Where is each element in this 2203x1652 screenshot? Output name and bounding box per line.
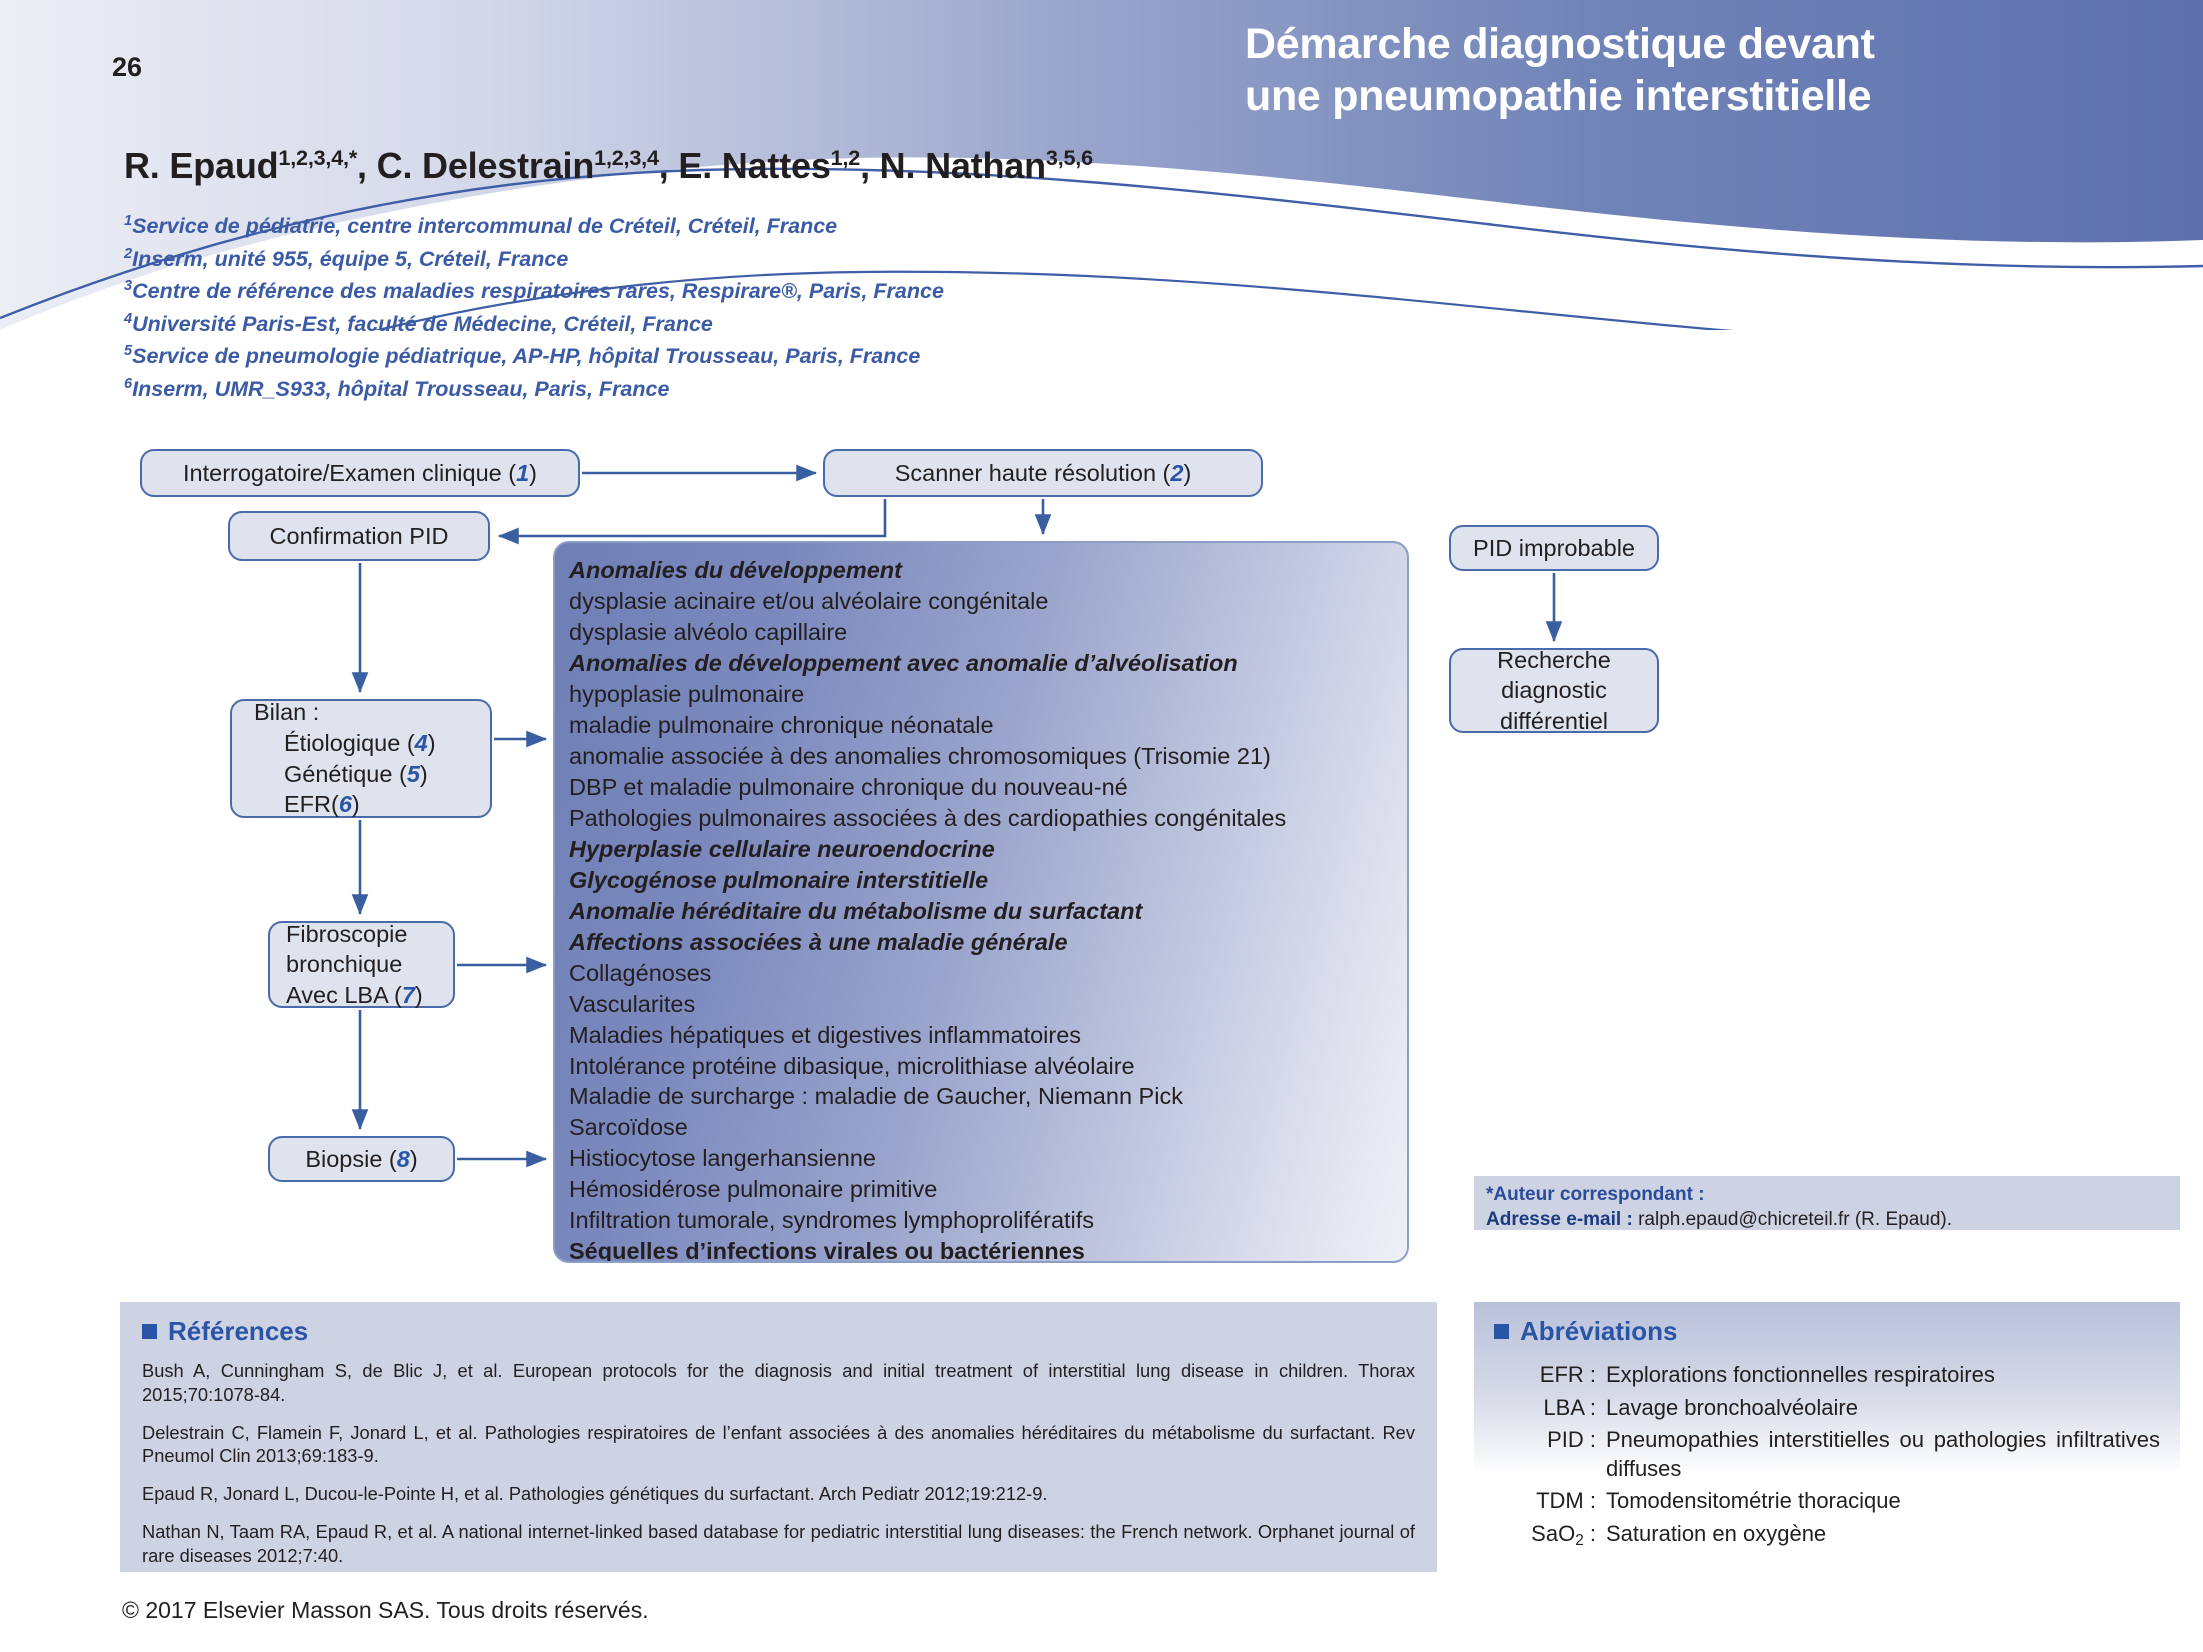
abbreviation-value: Pneumopathies interstitielles ou patholo… (1606, 1426, 2160, 1483)
flow-box-label: Biopsie (8) (305, 1144, 417, 1175)
abbreviations-heading: Abréviations (1494, 1316, 2160, 1347)
corresponding-author-label: *Auteur correspondant : (1486, 1182, 2168, 1207)
flow-box-interrogatoire[interactable]: Interrogatoire/Examen clinique (1) (140, 449, 580, 497)
abbreviation-value: Saturation en oxygène (1606, 1520, 2160, 1549)
abbreviation-key: EFR : (1494, 1361, 1606, 1390)
abbreviations-heading-label: Abréviations (1520, 1316, 1678, 1347)
disease-list-item: dysplasie acinaire et/ou alvéolaire cong… (569, 586, 1407, 617)
references-heading-label: Références (168, 1316, 308, 1347)
abbreviation-key: PID : (1494, 1426, 1606, 1483)
abbreviation-key: SaO2 : (1494, 1520, 1606, 1549)
disease-classification-panel: Anomalies du développementdysplasie acin… (553, 541, 1409, 1263)
abbreviations-panel: Abréviations EFR :Explorations fonctionn… (1474, 1302, 2180, 1582)
disease-list-item: Glycogénose pulmonaire interstitielle (569, 865, 1407, 896)
disease-list-item: dysplasie alvéolo capillaire (569, 617, 1407, 648)
flow-box-label: Bilan : Étiologique (4) Génétique (5) EF… (242, 697, 436, 819)
square-bullet-icon (1494, 1324, 1509, 1339)
references-panel: Références Bush A, Cunningham S, de Blic… (120, 1302, 1437, 1572)
disease-list-item: Hyperplasie cellulaire neuroendocrine (569, 834, 1407, 865)
flow-box-label: Confirmation PID (270, 521, 449, 552)
abbreviation-row: EFR :Explorations fonctionnelles respira… (1494, 1361, 2160, 1390)
disease-list-item: Affections associées à une maladie génér… (569, 927, 1407, 958)
disease-list-item: DBP et maladie pulmonaire chronique du n… (569, 772, 1407, 803)
flow-box-recherche-diagnostic-differentiel[interactable]: Recherche diagnostic différentiel (1449, 648, 1659, 733)
square-bullet-icon (142, 1324, 157, 1339)
disease-list-item: Maladies hépatiques et digestives inflam… (569, 1020, 1407, 1051)
disease-list-item: maladie pulmonaire chronique néonatale (569, 710, 1407, 741)
disease-list-item: Séquelles d’infections virales ou bactér… (569, 1236, 1407, 1263)
disease-list: Anomalies du développementdysplasie acin… (569, 555, 1407, 1263)
abbreviation-value: Explorations fonctionnelles respiratoire… (1606, 1361, 2160, 1390)
disease-list-item: Vascularites (569, 989, 1407, 1020)
abbreviation-key: TDM : (1494, 1487, 1606, 1516)
abbreviation-row: TDM :Tomodensitométrie thoracique (1494, 1487, 2160, 1516)
disease-list-item: Infiltration tumorale, syndromes lymphop… (569, 1205, 1407, 1236)
flow-box-fibroscopie-bronchique[interactable]: Fibroscopie bronchique Avec LBA (7) (268, 921, 455, 1008)
abbreviation-value: Tomodensitométrie thoracique (1606, 1487, 2160, 1516)
reference-item: Epaud R, Jonard L, Ducou-le-Pointe H, et… (142, 1482, 1415, 1506)
references-heading: Références (142, 1316, 1415, 1347)
disease-list-item: Histiocytose langerhansienne (569, 1143, 1407, 1174)
copyright-notice: © 2017 Elsevier Masson SAS. Tous droits … (122, 1597, 649, 1624)
flow-box-label: Interrogatoire/Examen clinique (1) (183, 458, 537, 489)
reference-item: Nathan N, Taam RA, Epaud R, et al. A nat… (142, 1520, 1415, 1568)
disease-list-item: Intolérance protéine dibasique, microlit… (569, 1051, 1407, 1082)
disease-list-item: anomalie associée à des anomalies chromo… (569, 741, 1407, 772)
reference-item: Delestrain C, Flamein F, Jonard L, et al… (142, 1421, 1415, 1469)
abbreviation-row: PID :Pneumopathies interstitielles ou pa… (1494, 1426, 2160, 1483)
reference-item: Bush A, Cunningham S, de Blic J, et al. … (142, 1359, 1415, 1407)
disease-list-item: hypoplasie pulmonaire (569, 679, 1407, 710)
disease-list-item: Hémosidérose pulmonaire primitive (569, 1174, 1407, 1205)
disease-list-item: Pathologies pulmonaires associées à des … (569, 803, 1407, 834)
flow-box-scanner-haute-resolution[interactable]: Scanner haute résolution (2) (823, 449, 1263, 497)
abbreviation-key: LBA : (1494, 1394, 1606, 1423)
flow-box-biopsie[interactable]: Biopsie (8) (268, 1136, 455, 1182)
abbreviation-row: LBA :Lavage bronchoalvéolaire (1494, 1394, 2160, 1423)
disease-list-item: Maladie de surcharge : maladie de Gauche… (569, 1081, 1407, 1112)
abbreviation-key-subscript: 2 (1575, 1532, 1584, 1549)
disease-list-item: Anomalies du développement (569, 555, 1407, 586)
abbreviations-list: EFR :Explorations fonctionnelles respira… (1494, 1361, 2160, 1549)
disease-list-item: Anomalie héréditaire du métabolisme du s… (569, 896, 1407, 927)
flow-box-pid-improbable[interactable]: PID improbable (1449, 525, 1659, 571)
corresponding-author-email-row: Adresse e-mail : ralph.epaud@chicreteil.… (1486, 1207, 2168, 1232)
disease-list-item: Sarcoïdose (569, 1112, 1407, 1143)
corresponding-author-box: *Auteur correspondant : Adresse e-mail :… (1474, 1176, 2180, 1230)
flow-box-label: Fibroscopie bronchique Avec LBA (7) (280, 919, 423, 1011)
flow-box-label: PID improbable (1473, 533, 1635, 564)
disease-list-item: Anomalies de développement avec anomalie… (569, 648, 1407, 679)
flow-box-confirmation-pid[interactable]: Confirmation PID (228, 511, 490, 561)
flow-box-label: Scanner haute résolution (2) (895, 458, 1192, 489)
disease-list-item: Collagénoses (569, 958, 1407, 989)
flow-box-label: Recherche diagnostic différentiel (1497, 645, 1611, 737)
abbreviation-value: Lavage bronchoalvéolaire (1606, 1394, 2160, 1423)
abbreviation-row: SaO2 :Saturation en oxygène (1494, 1520, 2160, 1549)
corresponding-author-email[interactable]: ralph.epaud@chicreteil.fr (R. Epaud). (1633, 1209, 1952, 1230)
flow-box-bilan[interactable]: Bilan : Étiologique (4) Génétique (5) EF… (230, 699, 492, 818)
